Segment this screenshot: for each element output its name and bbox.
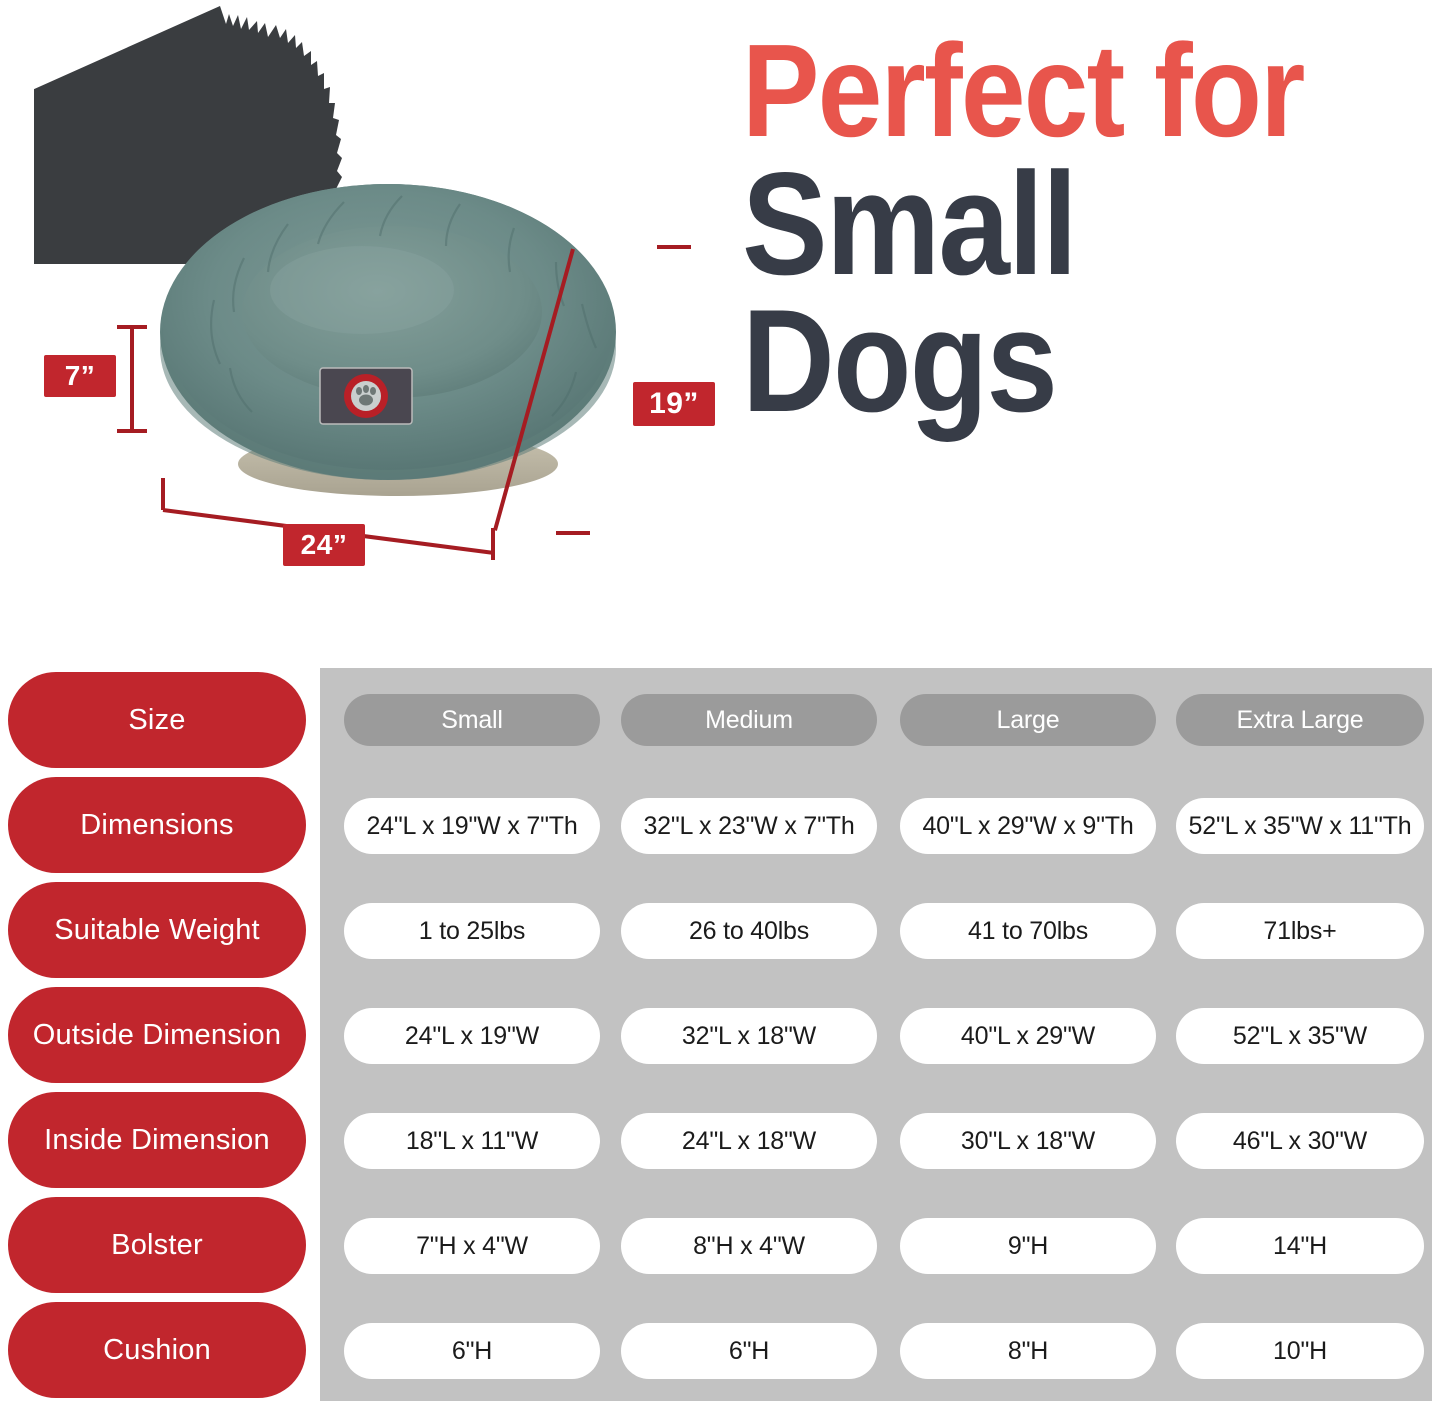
headline-line-2: Small — [742, 157, 1358, 291]
column-header-small: Small — [344, 694, 600, 746]
spec-row-label-column: Size Dimensions Suitable Weight Outside … — [4, 660, 308, 1393]
measurement-cap-width-top — [657, 245, 691, 249]
measurement-cap-length-left — [161, 478, 165, 510]
table-cell: 9"H — [900, 1218, 1156, 1274]
product-image-dog-bed — [148, 172, 628, 507]
measurement-cap-width-bottom — [556, 531, 590, 535]
table-cell: 41 to 70lbs — [900, 903, 1156, 959]
row-label-inside-dimension: Inside Dimension — [8, 1092, 306, 1188]
headline-line-3: Dogs — [742, 294, 1358, 428]
table-cell: 24"L x 19"W x 7"Th — [344, 798, 600, 854]
measurement-line-height — [130, 325, 134, 433]
table-cell: 24"L x 19"W — [344, 1008, 600, 1064]
table-cell: 8"H x 4"W — [621, 1218, 877, 1274]
table-cell: 6"H — [621, 1323, 877, 1379]
spec-table-section: Size Dimensions Suitable Weight Outside … — [0, 660, 1445, 1401]
table-cell: 71lbs+ — [1176, 903, 1424, 959]
row-label-outside-dimension: Outside Dimension — [8, 987, 306, 1083]
table-cell: 46"L x 30"W — [1176, 1113, 1424, 1169]
row-label-suitable-weight: Suitable Weight — [8, 882, 306, 978]
column-header-large: Large — [900, 694, 1156, 746]
brand-tag-icon — [320, 368, 412, 424]
table-cell: 1 to 25lbs — [344, 903, 600, 959]
table-cell: 7"H x 4"W — [344, 1218, 600, 1274]
table-cell: 30"L x 18"W — [900, 1113, 1156, 1169]
table-cell: 40"L x 29"W — [900, 1008, 1156, 1064]
measurement-cap-height-bottom — [117, 429, 147, 433]
headline-block: Perfect for Small Dogs — [742, 30, 1442, 428]
table-cell: 52"L x 35"W — [1176, 1008, 1424, 1064]
column-header-medium: Medium — [621, 694, 877, 746]
measurement-badge-height: 7” — [44, 355, 116, 397]
infographic-page: 7” 24” 19” Perfect for Small Dogs Size D… — [0, 0, 1445, 1401]
table-cell: 40"L x 29"W x 9"Th — [900, 798, 1156, 854]
row-label-size: Size — [8, 672, 306, 768]
table-cell: 26 to 40lbs — [621, 903, 877, 959]
headline-line-1: Perfect for — [742, 30, 1358, 151]
table-cell: 14"H — [1176, 1218, 1424, 1274]
table-cell: 32"L x 18"W — [621, 1008, 877, 1064]
table-cell: 10"H — [1176, 1323, 1424, 1379]
table-cell: 52"L x 35"W x 11"Th — [1176, 798, 1424, 854]
measurement-badge-width: 19” — [633, 382, 715, 426]
hero-section: 7” 24” 19” Perfect for Small Dogs — [0, 0, 1445, 660]
measurement-cap-height-top — [117, 325, 147, 329]
measurement-badge-length: 24” — [283, 524, 365, 566]
table-cell: 6"H — [344, 1323, 600, 1379]
row-label-bolster: Bolster — [8, 1197, 306, 1293]
column-header-extra-large: Extra Large — [1176, 694, 1424, 746]
table-cell: 8"H — [900, 1323, 1156, 1379]
row-label-cushion: Cushion — [8, 1302, 306, 1398]
table-cell: 24"L x 18"W — [621, 1113, 877, 1169]
measurement-cap-length-right — [491, 528, 495, 560]
row-label-dimensions: Dimensions — [8, 777, 306, 873]
table-cell: 32"L x 23"W x 7"Th — [621, 798, 877, 854]
table-cell: 18"L x 11"W — [344, 1113, 600, 1169]
